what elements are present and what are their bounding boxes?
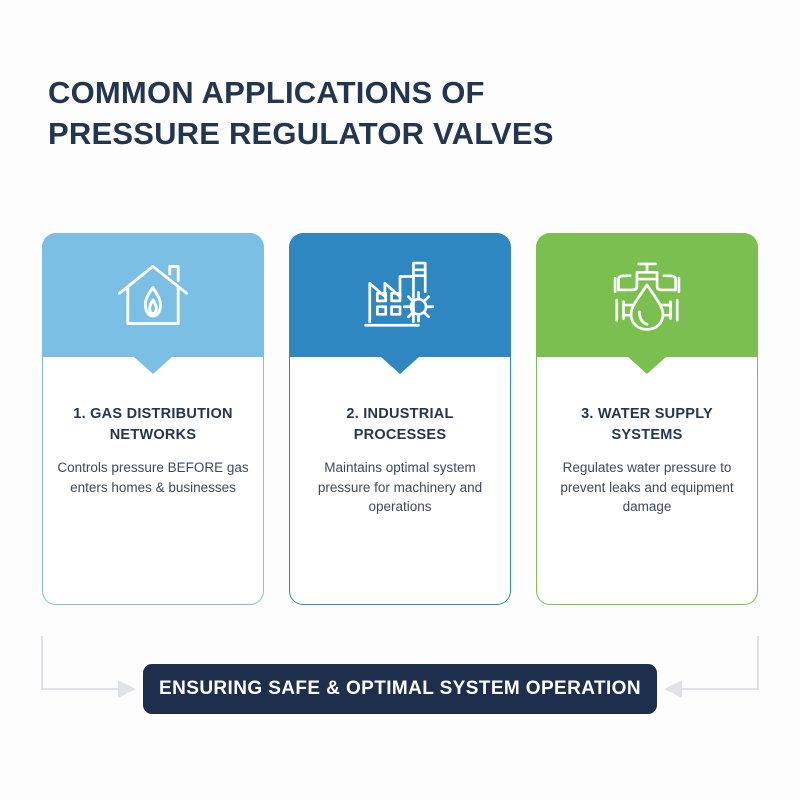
card-industrial-processes[interactable]: 2. INDUSTRIAL PROCESSES Maintains optima…: [289, 233, 511, 605]
card-water-supply-systems[interactable]: 3. WATER SUPPLY SYSTEMS Regulates water …: [536, 233, 758, 605]
card-gas-distribution-networks[interactable]: 1. GAS DISTRIBUTION NETWORKS Controls pr…: [42, 233, 264, 605]
application-cards: 1. GAS DISTRIBUTION NETWORKS Controls pr…: [42, 233, 758, 605]
house-flame-icon: [111, 253, 195, 337]
card-text-1: Controls pressure BEFORE gas enters home…: [57, 458, 249, 497]
card-body-3: 3. WATER SUPPLY SYSTEMS Regulates water …: [536, 357, 758, 605]
summary-banner: ENSURING SAFE & OPTIMAL SYSTEM OPERATION: [143, 664, 657, 714]
card-text-2: Maintains optimal system pressure for ma…: [304, 458, 496, 517]
card-title-2: 2. INDUSTRIAL PROCESSES: [304, 404, 496, 446]
summary-banner-text: ENSURING SAFE & OPTIMAL SYSTEM OPERATION: [159, 678, 641, 700]
card-header-1: [42, 233, 264, 357]
connector-left: [42, 636, 134, 689]
page-title-line-1: COMMON APPLICATIONS OF: [48, 72, 748, 113]
card-title-3: 3. WATER SUPPLY SYSTEMS: [551, 404, 743, 446]
card-body-2: 2. INDUSTRIAL PROCESSES Maintains optima…: [289, 357, 511, 605]
card-header-3: [536, 233, 758, 357]
card-title-1: 1. GAS DISTRIBUTION NETWORKS: [57, 404, 249, 446]
infographic-page: COMMON APPLICATIONS OF PRESSURE REGULATO…: [0, 0, 800, 800]
card-text-3: Regulates water pressure to prevent leak…: [551, 458, 743, 517]
page-title: COMMON APPLICATIONS OF PRESSURE REGULATO…: [48, 72, 748, 154]
card-body-1: 1. GAS DISTRIBUTION NETWORKS Controls pr…: [42, 357, 264, 605]
connector-right: [666, 636, 758, 689]
page-title-line-2: PRESSURE REGULATOR VALVES: [48, 113, 748, 154]
card-header-2: [289, 233, 511, 357]
pipe-valve-waterdrop-icon: [605, 253, 689, 337]
factory-gear-icon: [358, 253, 442, 337]
